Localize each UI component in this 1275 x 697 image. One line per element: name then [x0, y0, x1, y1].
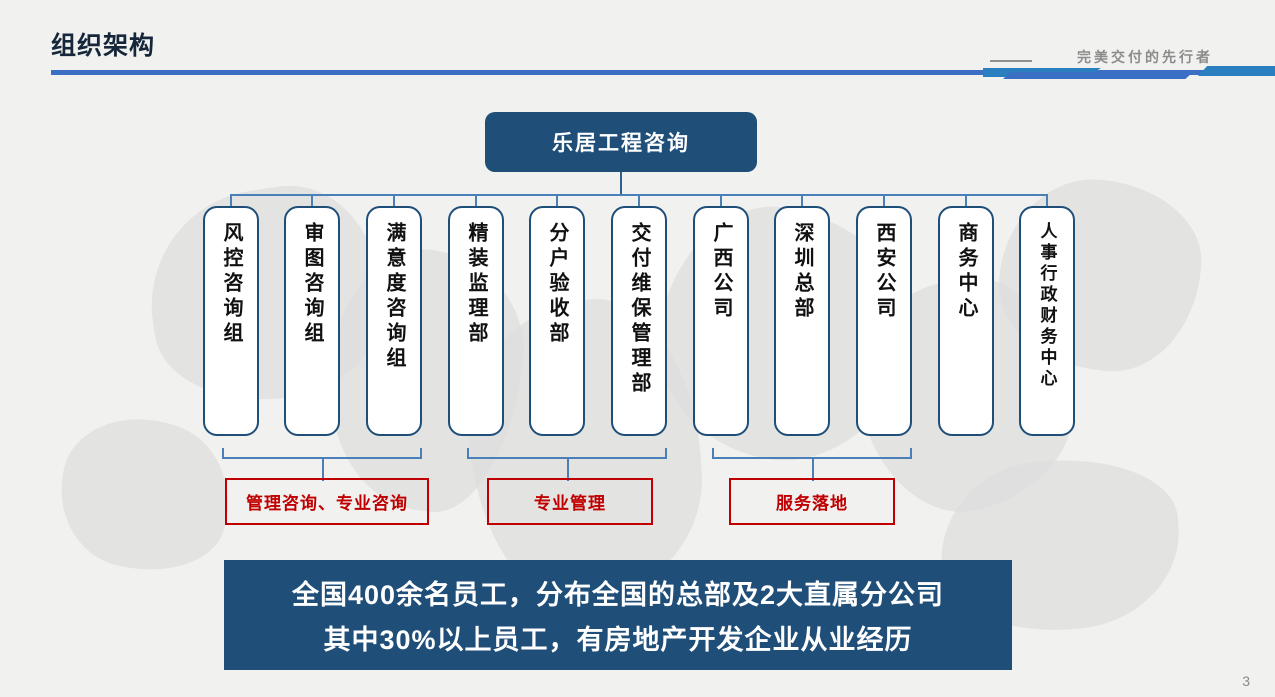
org-node-8[interactable]: 西安公司: [856, 206, 912, 436]
org-node-1[interactable]: 审图咨询组: [284, 206, 340, 436]
org-node-label: 商务中心: [956, 222, 976, 434]
org-node-label: 精装监理部: [466, 222, 486, 434]
org-node-label: 广西公司: [711, 222, 731, 434]
category-tag-3[interactable]: 服务落地: [729, 478, 895, 525]
org-node-2[interactable]: 满意度咨询组: [366, 206, 422, 436]
org-root-label: 乐居工程咨询: [552, 127, 690, 157]
org-node-10[interactable]: 人事行政财务中心: [1019, 206, 1075, 436]
org-node-label: 西安公司: [874, 222, 894, 434]
org-node-7[interactable]: 深圳总部: [774, 206, 830, 436]
brace-tick-right: [420, 448, 422, 457]
brace-tick-right: [665, 448, 667, 457]
category-tag-1[interactable]: 管理咨询、专业咨询: [225, 478, 429, 525]
page-number: 3: [1242, 673, 1250, 689]
summary-line-2: 其中30%以上员工，有房地产开发企业从业经历: [323, 618, 912, 657]
brace-tick-left: [712, 448, 714, 457]
org-node-0[interactable]: 风控咨询组: [203, 206, 259, 436]
connector-root-stem: [620, 172, 622, 195]
org-node-label: 分户验收部: [547, 222, 567, 434]
org-node-3[interactable]: 精装监理部: [448, 206, 504, 436]
org-node-label: 交付维保管理部: [629, 222, 649, 434]
summary-line-1: 全国400余名员工，分布全国的总部及2大直属分公司: [292, 573, 944, 612]
org-node-label: 人事行政财务中心: [1039, 222, 1056, 434]
org-node-label: 深圳总部: [792, 222, 812, 434]
org-node-label: 满意度咨询组: [384, 222, 404, 434]
brace-tick-right: [910, 448, 912, 457]
brace-tick-left: [222, 448, 224, 457]
org-node-4[interactable]: 分户验收部: [529, 206, 585, 436]
org-node-label: 风控咨询组: [221, 222, 241, 434]
category-tag-2[interactable]: 专业管理: [487, 478, 653, 525]
org-node-label: 审图咨询组: [302, 222, 322, 434]
org-node-6[interactable]: 广西公司: [693, 206, 749, 436]
org-root-node[interactable]: 乐居工程咨询: [485, 112, 757, 172]
org-node-5[interactable]: 交付维保管理部: [611, 206, 667, 436]
summary-banner: 全国400余名员工，分布全国的总部及2大直属分公司 其中30%以上员工，有房地产…: [224, 560, 1012, 670]
brace-tick-left: [467, 448, 469, 457]
org-node-9[interactable]: 商务中心: [938, 206, 994, 436]
